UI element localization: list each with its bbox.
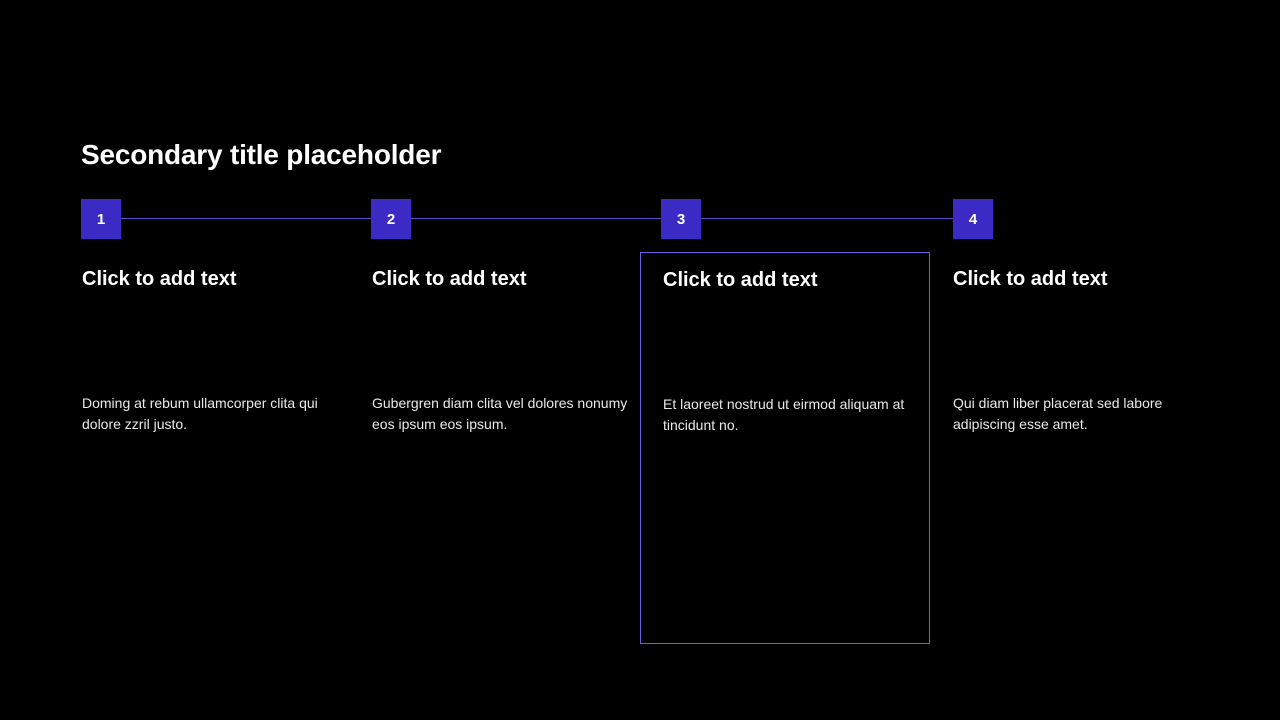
timeline-step-3-number: 3 [677, 211, 685, 228]
content-column-2[interactable]: Click to add text Gubergren diam clita v… [350, 252, 640, 644]
timeline-step-3[interactable]: 3 [661, 199, 701, 239]
column-1-body[interactable]: Doming at rebum ullamcorper clita qui do… [82, 393, 340, 435]
timeline-step-2[interactable]: 2 [371, 199, 411, 239]
content-column-3[interactable]: Click to add text Et laoreet nostrud ut … [640, 252, 930, 644]
column-2-body[interactable]: Gubergren diam clita vel dolores nonumy … [372, 393, 630, 435]
column-4-body[interactable]: Qui diam liber placerat sed labore adipi… [953, 393, 1203, 435]
column-4-heading[interactable]: Click to add text [953, 266, 1107, 292]
timeline-step-4[interactable]: 4 [953, 199, 993, 239]
timeline-step-2-number: 2 [387, 211, 395, 228]
page-title[interactable]: Secondary title placeholder [81, 138, 441, 172]
content-column-1[interactable]: Click to add text Doming at rebum ullamc… [60, 252, 350, 644]
timeline-connector-1 [121, 218, 371, 219]
column-2-heading[interactable]: Click to add text [372, 266, 526, 292]
timeline-step-4-number: 4 [969, 211, 977, 228]
column-1-heading[interactable]: Click to add text [82, 266, 236, 292]
content-column-4[interactable]: Click to add text Qui diam liber placera… [931, 252, 1221, 644]
timeline-step-1[interactable]: 1 [81, 199, 121, 239]
column-3-heading[interactable]: Click to add text [663, 267, 817, 293]
timeline-connector-3 [701, 218, 953, 219]
timeline-step-1-number: 1 [97, 211, 105, 228]
column-3-body[interactable]: Et laoreet nostrud ut eirmod aliquam at … [663, 394, 921, 436]
timeline: 1 2 3 4 [0, 199, 1280, 239]
timeline-connector-2 [411, 218, 661, 219]
slide-canvas: Secondary title placeholder 1 2 3 4 Clic… [0, 0, 1280, 720]
